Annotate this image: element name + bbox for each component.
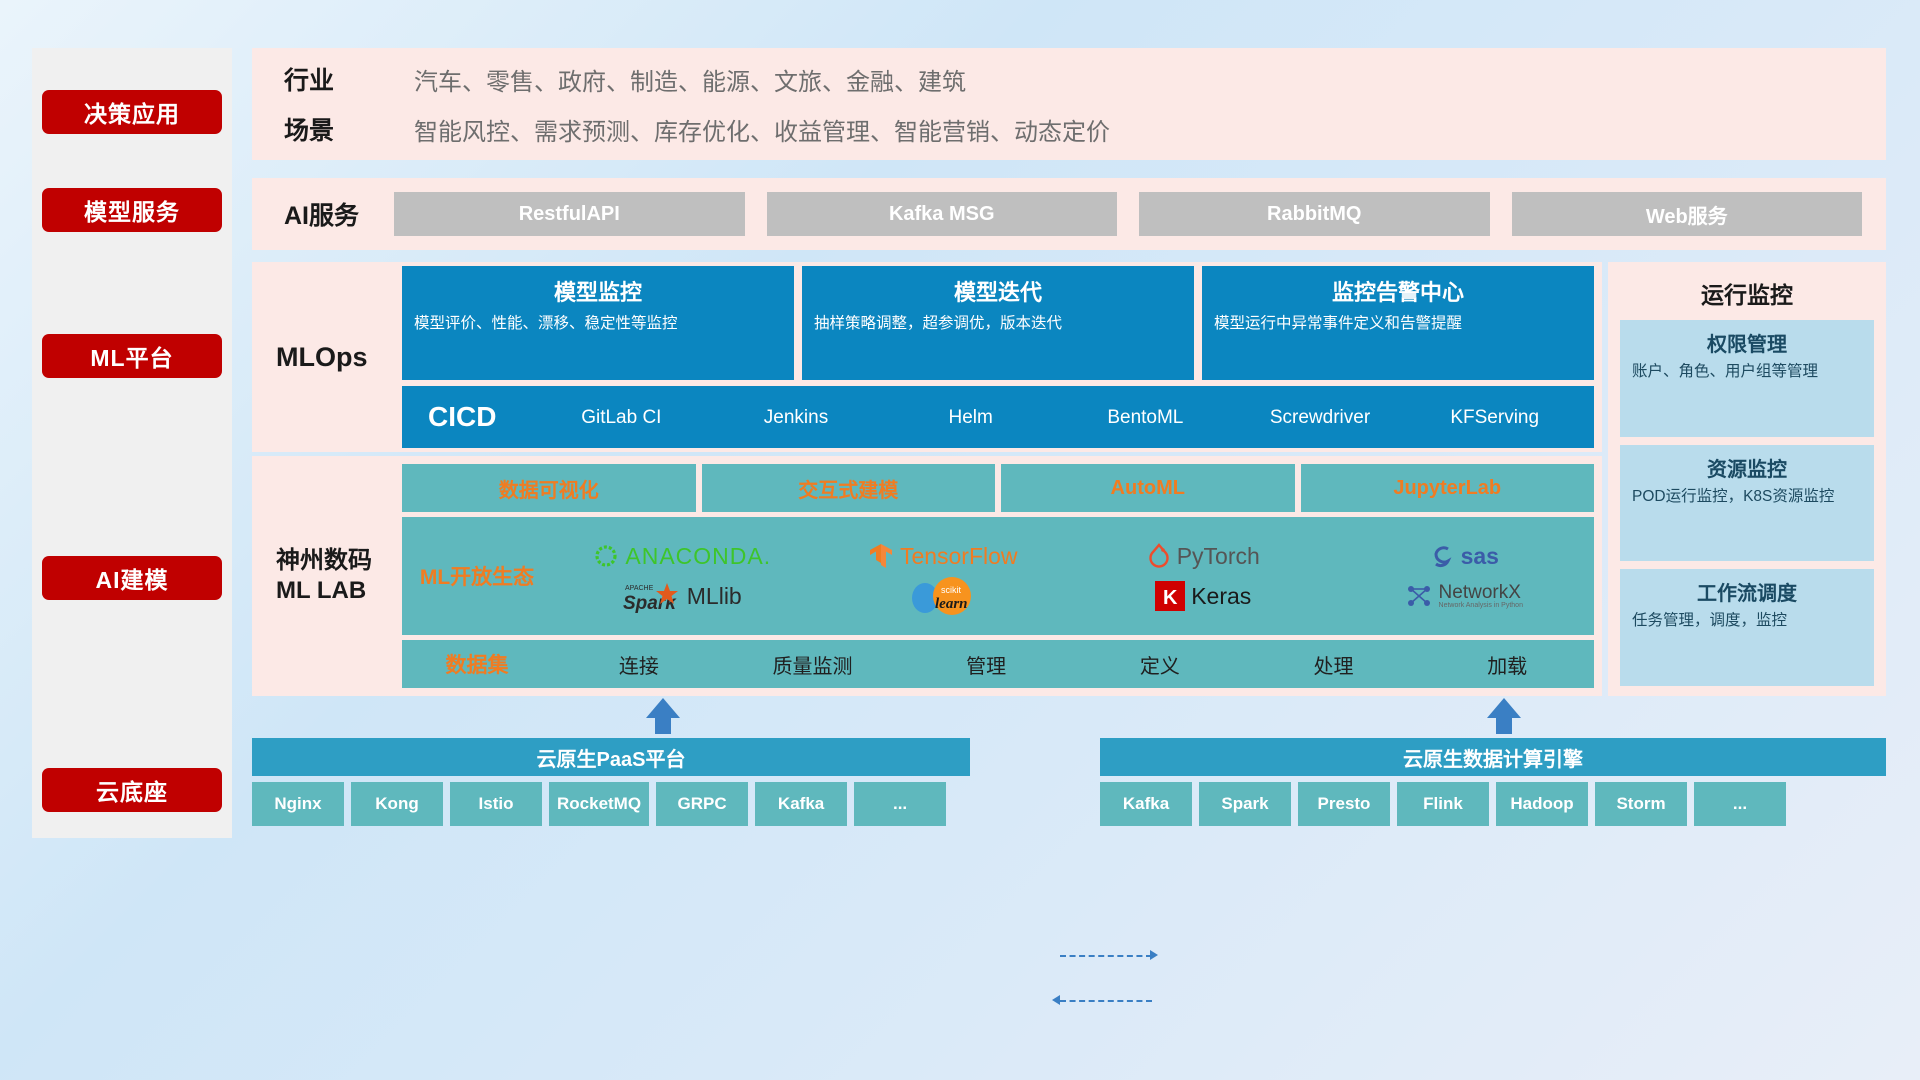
svg-text:scikit: scikit (941, 585, 961, 595)
rail-item-ai-modeling[interactable]: AI建模 (42, 556, 222, 600)
arrow-engine-up-icon (1487, 698, 1521, 718)
mlops-card-model-monitoring[interactable]: 模型监控 模型评价、性能、漂移、稳定性等监控 (402, 266, 794, 380)
svg-text:APACHE: APACHE (625, 585, 654, 592)
spark-icon: APACHE Spark (623, 579, 681, 613)
logo-label: NetworkX (1439, 583, 1523, 602)
mlops-card-model-iteration[interactable]: 模型迭代 抽样策略调整，超参调优，版本迭代 (802, 266, 1194, 380)
engine-chip-kafka[interactable]: Kafka (1100, 782, 1192, 826)
dataset-item-manage[interactable]: 管理 (899, 650, 1073, 679)
paas-chip-rocketmq[interactable]: RocketMQ (549, 782, 649, 826)
paas-chip-istio[interactable]: Istio (450, 782, 542, 826)
industry-label: 行业 (284, 61, 414, 97)
logo-keras: K Keras (1073, 581, 1334, 611)
logo-label: sas (1461, 543, 1499, 570)
rail-item-ml-platform[interactable]: ML平台 (42, 334, 222, 378)
industry-row: 行业 汽车、零售、政府、制造、能源、文旅、金融、建筑 (284, 61, 1886, 97)
paas-chip-grpc[interactable]: GRPC (656, 782, 748, 826)
rail-item-decision-app[interactable]: 决策应用 (42, 90, 222, 134)
rail-item-cloud-base[interactable]: 云底座 (42, 768, 222, 812)
dataset-row: 数据集 连接 质量监测 管理 定义 处理 加载 (402, 640, 1594, 688)
keras-icon: K (1155, 581, 1185, 611)
logo-spark-mllib: APACHE Spark MLlib (552, 579, 813, 613)
cicd-item-kfserving[interactable]: KFServing (1407, 408, 1582, 427)
left-rail: 决策应用 模型服务 ML平台 AI建模 云底座 (32, 48, 232, 838)
cicd-item-bentoml[interactable]: BentoML (1058, 408, 1233, 427)
engine-chip-storm[interactable]: Storm (1595, 782, 1687, 826)
card-desc: 抽样策略调整，超参调优，版本迭代 (814, 314, 1182, 334)
runtime-monitor-title: 运行监控 (1620, 272, 1874, 312)
dataset-item-connect[interactable]: 连接 (552, 650, 726, 679)
cicd-item-gitlab[interactable]: GitLab CI (534, 408, 709, 427)
monitor-card-workflow[interactable]: 工作流调度 任务管理，调度，监控 (1620, 569, 1874, 686)
ml-lab-band: 神州数码 ML LAB 数据可视化 交互式建模 AutoML JupyterLa… (252, 456, 1602, 696)
card-title: 模型迭代 (814, 275, 1182, 307)
logo-scikit-learn: scikit learn (813, 576, 1074, 616)
logo-anaconda: ANACONDA. (552, 543, 813, 570)
card-title: 资源监控 (1632, 453, 1862, 482)
engine-chip-more[interactable]: ... (1694, 782, 1786, 826)
arrow-engine-stem-icon (1496, 718, 1512, 734)
dataset-item-quality[interactable]: 质量监测 (726, 650, 900, 679)
industry-band: 行业 汽车、零售、政府、制造、能源、文旅、金融、建筑 场景 智能风控、需求预测、… (252, 48, 1886, 160)
card-desc: 模型运行中异常事件定义和告警提醒 (1214, 314, 1582, 334)
ai-service-label: AI服务 (252, 196, 394, 232)
connector-arrow-left-icon (1052, 995, 1060, 1005)
logo-label: TensorFlow (900, 543, 1018, 570)
engine-chip-hadoop[interactable]: Hadoop (1496, 782, 1588, 826)
dataset-item-load[interactable]: 加载 (1420, 650, 1594, 679)
ml-ecosystem-label: ML开放生态 (402, 561, 552, 591)
ml-lab-label: 神州数码 ML LAB (252, 546, 402, 606)
cicd-item-screwdriver[interactable]: Screwdriver (1233, 408, 1408, 427)
rail-item-model-service[interactable]: 模型服务 (42, 188, 222, 232)
ai-service-chip-kafka[interactable]: Kafka MSG (767, 192, 1118, 236)
dataset-label: 数据集 (402, 649, 552, 679)
ai-service-band: AI服务 RestfulAPI Kafka MSG RabbitMQ Web服务 (252, 178, 1886, 250)
logo-label: Keras (1191, 583, 1251, 610)
paas-chip-kafka[interactable]: Kafka (755, 782, 847, 826)
mlops-band: MLOps 模型监控 模型评价、性能、漂移、稳定性等监控 模型迭代 抽样策略调整… (252, 262, 1602, 452)
scikit-learn-icon: scikit learn (907, 576, 979, 616)
cicd-item-helm[interactable]: Helm (883, 408, 1058, 427)
card-title: 工作流调度 (1632, 577, 1862, 606)
lab-tool-jupyterlab[interactable]: JupyterLab (1301, 464, 1595, 512)
ai-service-chip-rabbitmq[interactable]: RabbitMQ (1139, 192, 1490, 236)
tensorflow-icon (868, 542, 894, 570)
card-title: 权限管理 (1632, 328, 1862, 357)
logo-label: MLlib (687, 583, 742, 610)
card-title: 模型监控 (414, 275, 782, 307)
paas-chip-kong[interactable]: Kong (351, 782, 443, 826)
ai-service-chip-web[interactable]: Web服务 (1512, 192, 1863, 236)
engine-chip-presto[interactable]: Presto (1298, 782, 1390, 826)
logo-tensorflow: TensorFlow (813, 542, 1074, 570)
paas-chip-more[interactable]: ... (854, 782, 946, 826)
cicd-item-jenkins[interactable]: Jenkins (709, 408, 884, 427)
networkx-icon (1405, 582, 1433, 610)
connector-engine-to-paas (1060, 1000, 1152, 1002)
runtime-monitor-column: 运行监控 权限管理 账户、角色、用户组等管理 资源监控 POD运行监控，K8S资… (1608, 262, 1886, 696)
svg-text:K: K (1163, 587, 1178, 609)
cloud-paas-chips: Nginx Kong Istio RocketMQ GRPC Kafka ... (252, 782, 946, 826)
engine-chip-flink[interactable]: Flink (1397, 782, 1489, 826)
cicd-bar: CICD GitLab CI Jenkins Helm BentoML Scre… (402, 386, 1594, 448)
card-desc: 任务管理，调度，监控 (1632, 611, 1862, 631)
monitor-card-permission[interactable]: 权限管理 账户、角色、用户组等管理 (1620, 320, 1874, 437)
lab-tool-interactive-modeling[interactable]: 交互式建模 (702, 464, 996, 512)
lab-tool-data-visualization[interactable]: 数据可视化 (402, 464, 696, 512)
card-desc: POD运行监控，K8S资源监控 (1632, 487, 1862, 507)
anaconda-icon (593, 543, 619, 569)
ml-lab-label-line1: 神州数码 (276, 546, 402, 576)
mlops-label: MLOps (252, 342, 402, 373)
diagram-canvas: 决策应用 模型服务 ML平台 AI建模 云底座 行业 汽车、零售、政府、制造、能… (0, 0, 1920, 1080)
arrow-paas-stem-icon (655, 718, 671, 734)
cloud-paas-title-bar: 云原生PaaS平台 (252, 738, 970, 776)
sas-icon (1429, 543, 1455, 569)
ai-service-chip-restful[interactable]: RestfulAPI (394, 192, 745, 236)
logo-label: ANACONDA. (625, 543, 771, 570)
card-desc: 账户、角色、用户组等管理 (1632, 362, 1862, 382)
ml-lab-label-line2: ML LAB (276, 576, 402, 606)
lab-tool-automl[interactable]: AutoML (1001, 464, 1295, 512)
connector-paas-to-engine (1060, 955, 1152, 957)
scenario-row: 场景 智能风控、需求预测、库存优化、收益管理、智能营销、动态定价 (284, 111, 1886, 147)
logo-networkx: NetworkX Network Analysis in Python (1334, 582, 1595, 610)
logo-sas: sas (1334, 543, 1595, 570)
scenario-values: 智能风控、需求预测、库存优化、收益管理、智能营销、动态定价 (414, 112, 1110, 147)
cloud-engine-title-bar: 云原生数据计算引擎 (1100, 738, 1886, 776)
engine-chip-spark[interactable]: Spark (1199, 782, 1291, 826)
logo-sublabel: Network Analysis in Python (1439, 602, 1523, 609)
monitor-card-resource[interactable]: 资源监控 POD运行监控，K8S资源监控 (1620, 445, 1874, 562)
arrow-paas-up-icon (646, 698, 680, 718)
scenario-label: 场景 (284, 111, 414, 147)
mlops-card-alert-center[interactable]: 监控告警中心 模型运行中异常事件定义和告警提醒 (1202, 266, 1594, 380)
logo-pytorch: PyTorch (1073, 543, 1334, 570)
cicd-title: CICD (414, 401, 534, 433)
paas-chip-nginx[interactable]: Nginx (252, 782, 344, 826)
pytorch-icon (1147, 543, 1171, 569)
card-desc: 模型评价、性能、漂移、稳定性等监控 (414, 314, 782, 334)
ml-ecosystem-row: ML开放生态 ANACONDA. TensorFlo (402, 517, 1594, 635)
industry-values: 汽车、零售、政府、制造、能源、文旅、金融、建筑 (414, 62, 966, 97)
connector-arrow-right-icon (1150, 950, 1158, 960)
svg-text:learn: learn (935, 596, 968, 612)
logo-label: PyTorch (1177, 543, 1260, 570)
card-title: 监控告警中心 (1214, 275, 1582, 307)
cloud-engine-chips: Kafka Spark Presto Flink Hadoop Storm ..… (1100, 782, 1786, 826)
dataset-item-process[interactable]: 处理 (1247, 650, 1421, 679)
dataset-item-define[interactable]: 定义 (1073, 650, 1247, 679)
